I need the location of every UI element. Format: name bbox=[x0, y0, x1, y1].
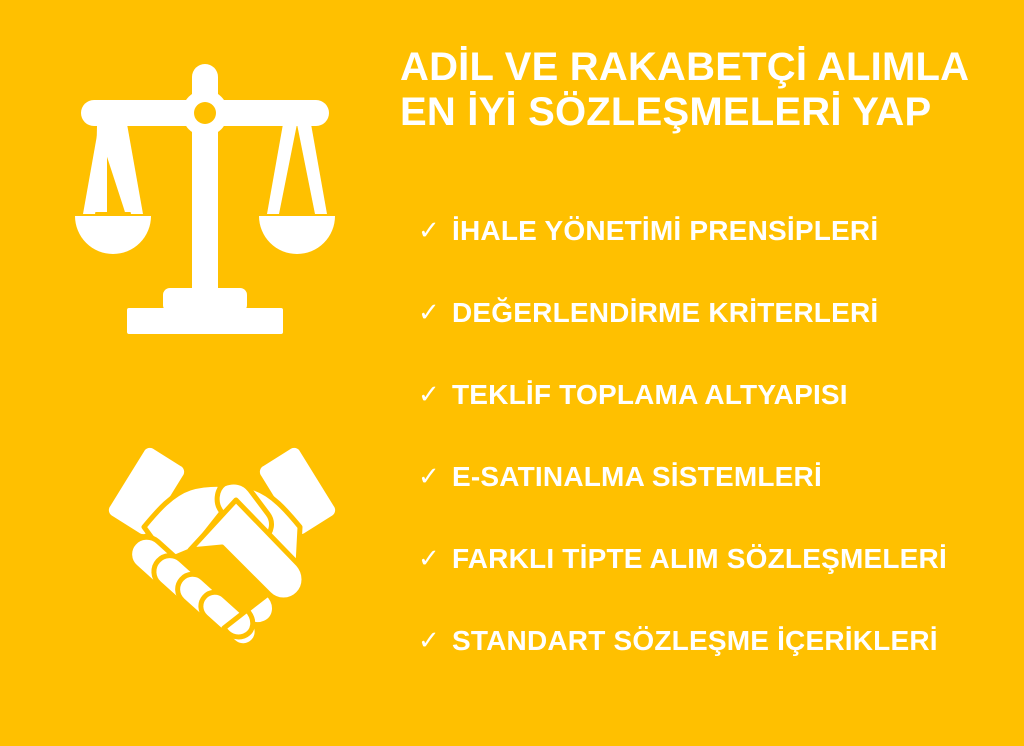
list-item-label: FARKLI TİPTE ALIM SÖZLEŞMELERİ bbox=[452, 543, 1018, 575]
list-item: ✓ İHALE YÖNETİMİ PRENSİPLERİ bbox=[418, 190, 1018, 272]
check-icon: ✓ bbox=[418, 382, 452, 408]
page-title: ADİL VE RAKABETÇİ ALIMLA EN İYİ SÖZLEŞME… bbox=[400, 45, 1020, 135]
list-item-label: DEĞERLENDİRME KRİTERLERİ bbox=[452, 297, 1018, 329]
check-icon: ✓ bbox=[418, 300, 452, 326]
handshake-icon bbox=[72, 432, 372, 647]
feature-bullet-list: ✓ İHALE YÖNETİMİ PRENSİPLERİ ✓ DEĞERLEND… bbox=[418, 190, 1018, 682]
check-icon: ✓ bbox=[418, 464, 452, 490]
content-column: ADİL VE RAKABETÇİ ALIMLA EN İYİ SÖZLEŞME… bbox=[398, 0, 1024, 746]
list-item-label: TEKLİF TOPLAMA ALTYAPISI bbox=[452, 379, 1018, 411]
icon-column bbox=[0, 0, 400, 746]
check-icon: ✓ bbox=[418, 546, 452, 572]
list-item: ✓ STANDART SÖZLEŞME İÇERİKLERİ bbox=[418, 600, 1018, 682]
list-item-label: E-SATINALMA SİSTEMLERİ bbox=[452, 461, 1018, 493]
scales-of-justice-icon bbox=[75, 62, 335, 334]
promotional-slide: ADİL VE RAKABETÇİ ALIMLA EN İYİ SÖZLEŞME… bbox=[0, 0, 1024, 746]
check-icon: ✓ bbox=[418, 218, 452, 244]
list-item: ✓ DEĞERLENDİRME KRİTERLERİ bbox=[418, 272, 1018, 354]
list-item: ✓ TEKLİF TOPLAMA ALTYAPISI bbox=[418, 354, 1018, 436]
check-icon: ✓ bbox=[418, 628, 452, 654]
title-line-2: EN İYİ SÖZLEŞMELERİ YAP bbox=[400, 90, 1020, 135]
list-item-label: İHALE YÖNETİMİ PRENSİPLERİ bbox=[452, 215, 1018, 247]
list-item-label: STANDART SÖZLEŞME İÇERİKLERİ bbox=[452, 625, 1018, 657]
list-item: ✓ FARKLI TİPTE ALIM SÖZLEŞMELERİ bbox=[418, 518, 1018, 600]
list-item: ✓ E-SATINALMA SİSTEMLERİ bbox=[418, 436, 1018, 518]
title-line-1: ADİL VE RAKABETÇİ ALIMLA bbox=[400, 45, 1020, 90]
